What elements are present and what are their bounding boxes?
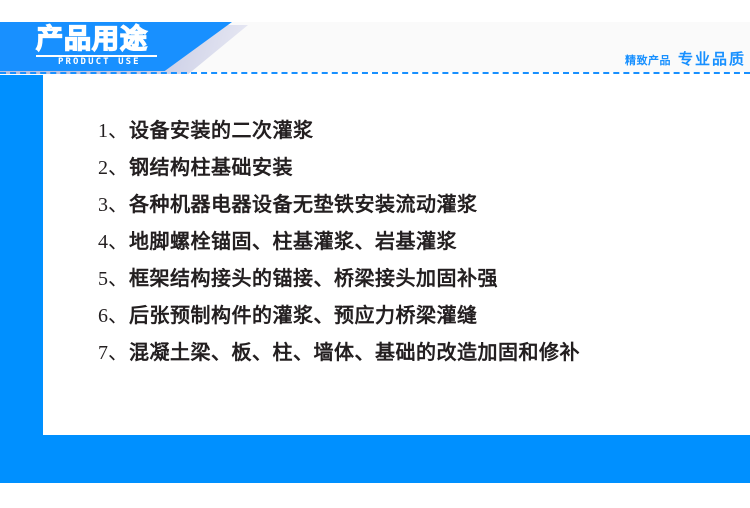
usage-list: 1 、 设备安装的二次灌浆 2 、 钢结构柱基础安装 3 、 各种机器电器设备无… <box>98 112 698 371</box>
list-item: 5 、 框架结构接头的锚接、桥梁接头加固补强 <box>98 260 698 297</box>
list-item-separator: 、 <box>108 112 128 149</box>
list-item: 2 、 钢结构柱基础安装 <box>98 149 698 186</box>
slogan-big-text: 专业品质 <box>678 48 746 69</box>
list-item-index: 6 <box>98 298 108 335</box>
list-item-separator: 、 <box>108 334 128 371</box>
list-item: 6 、 后张预制构件的灌浆、预应力桥梁灌缝 <box>98 297 698 334</box>
list-item-separator: 、 <box>108 297 128 334</box>
list-item-text: 混凝土梁、板、柱、墙体、基础的改造加固和修补 <box>129 334 580 371</box>
slogan: 精致产品 专业品质 <box>625 48 746 69</box>
list-item: 4 、 地脚螺栓锚固、柱基灌浆、岩基灌浆 <box>98 223 698 260</box>
banner-title: 产品用途 <box>36 25 148 55</box>
slogan-small-text: 精致产品 <box>625 52 671 68</box>
dashed-separator <box>0 72 750 74</box>
banner-subtitle: PRODUCT USE <box>58 57 141 67</box>
product-use-page: 产品用途 PRODUCT USE 精致产品 专业品质 1 、 设备安装的二次灌浆… <box>0 0 750 508</box>
list-item-separator: 、 <box>108 186 128 223</box>
bottom-accent-bar <box>0 435 750 483</box>
list-item-text: 后张预制构件的灌浆、预应力桥梁灌缝 <box>129 297 478 334</box>
list-item-text: 设备安装的二次灌浆 <box>129 112 314 149</box>
list-item-index: 2 <box>98 150 108 187</box>
list-item: 7 、 混凝土梁、板、柱、墙体、基础的改造加固和修补 <box>98 334 698 371</box>
list-item-index: 4 <box>98 224 108 261</box>
list-item: 3 、 各种机器电器设备无垫铁安装流动灌浆 <box>98 186 698 223</box>
list-item-separator: 、 <box>108 223 128 260</box>
list-item-index: 7 <box>98 335 108 372</box>
list-item: 1 、 设备安装的二次灌浆 <box>98 112 698 149</box>
list-item-text: 框架结构接头的锚接、桥梁接头加固补强 <box>129 260 498 297</box>
list-item-index: 5 <box>98 261 108 298</box>
list-item-index: 3 <box>98 187 108 224</box>
left-accent-bar <box>0 75 43 435</box>
list-item-text: 各种机器电器设备无垫铁安装流动灌浆 <box>129 186 478 223</box>
list-item-text: 地脚螺栓锚固、柱基灌浆、岩基灌浆 <box>129 223 457 260</box>
list-item-text: 钢结构柱基础安装 <box>129 149 293 186</box>
list-item-separator: 、 <box>108 260 128 297</box>
list-item-index: 1 <box>98 113 108 150</box>
list-item-separator: 、 <box>108 149 128 186</box>
